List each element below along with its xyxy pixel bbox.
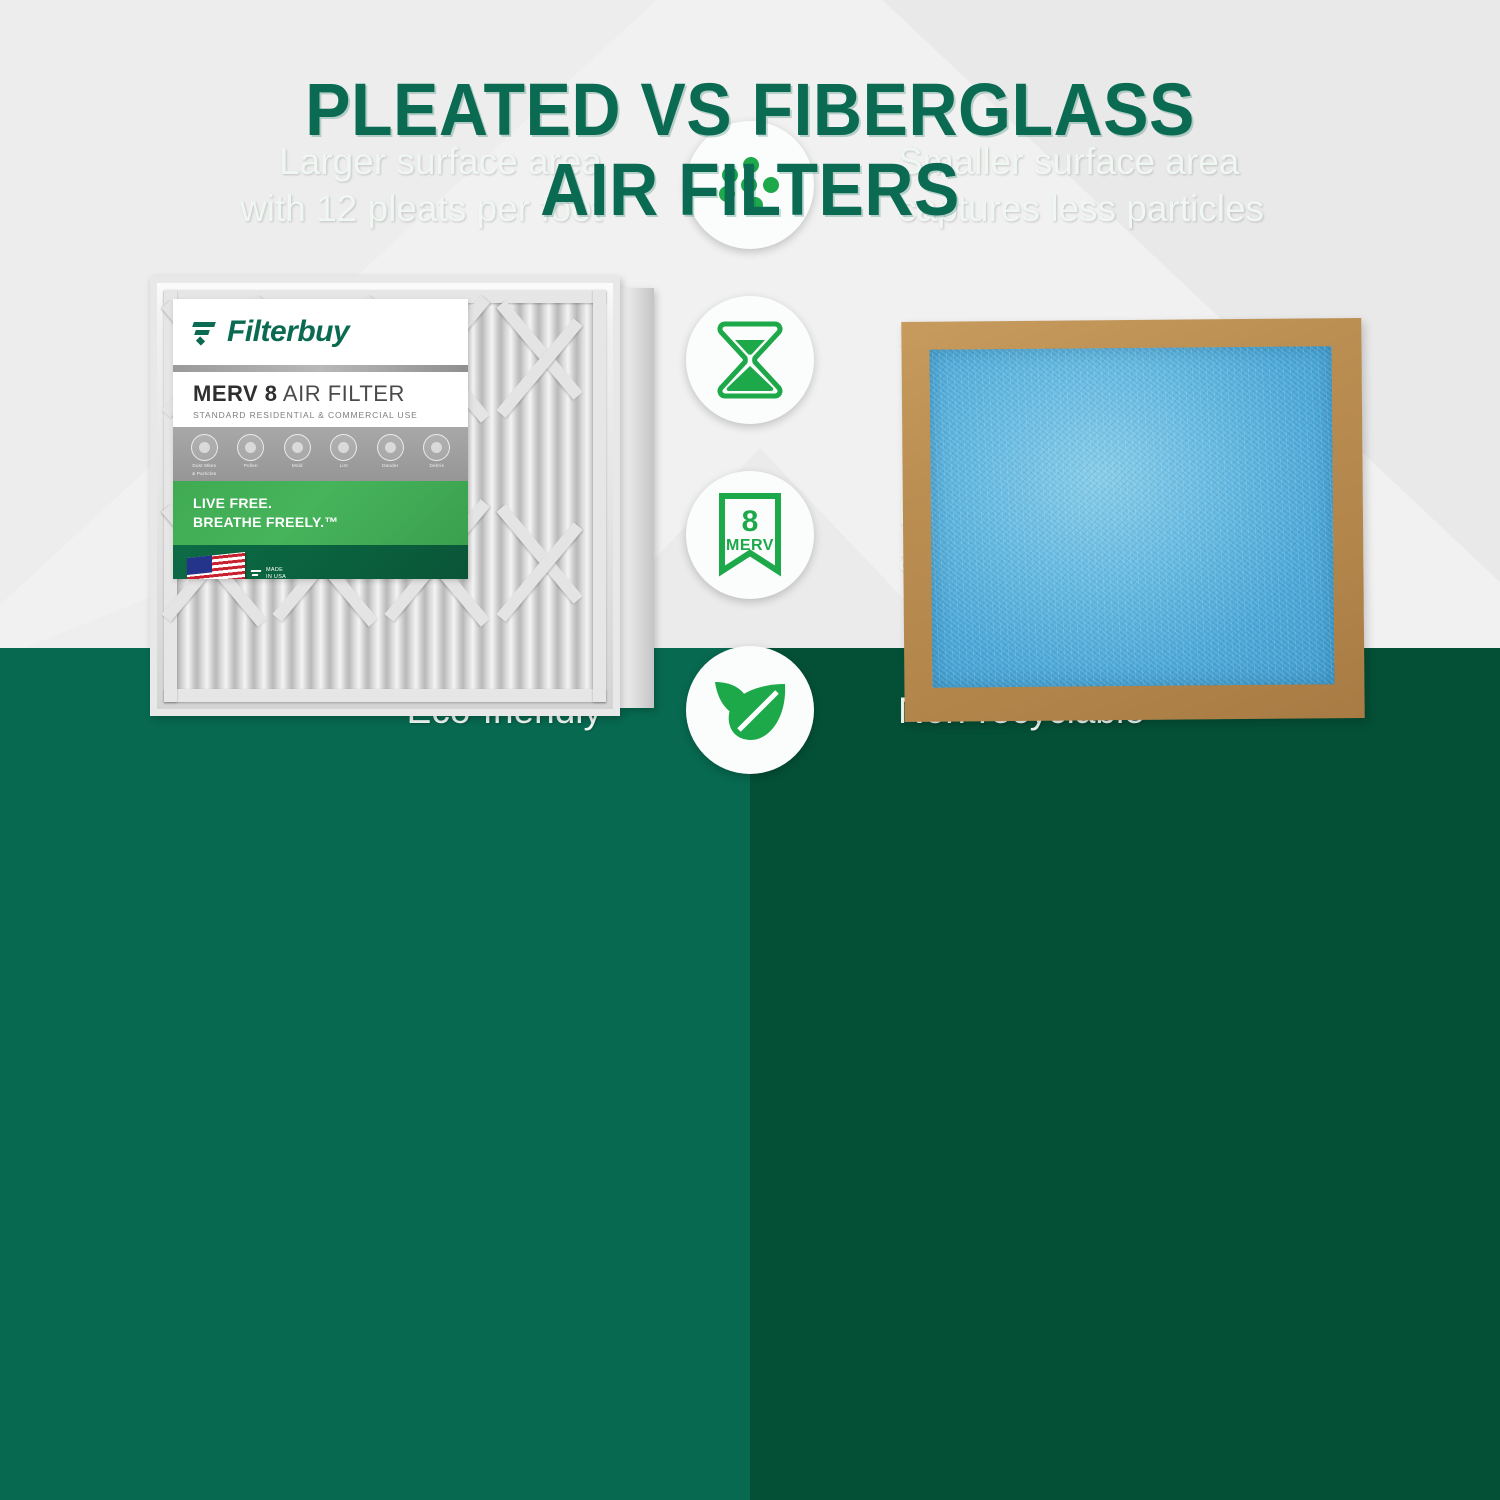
merv-badge-icon: 8 MERV bbox=[686, 471, 814, 599]
pleated-filter-side-wall bbox=[620, 288, 654, 708]
row-icon-wrap: 8 MERV bbox=[640, 471, 860, 599]
filterbuy-logo-icon bbox=[193, 319, 219, 345]
title-line-1: PLEATED VS FIBERGLASS bbox=[60, 70, 1440, 150]
label-feature-icon-pollen: Pollen bbox=[231, 434, 271, 469]
pleated-filter-image: Filterbuy MERV 8 AIR FILTER STANDARD RES… bbox=[150, 268, 650, 728]
title-line-2: AIR FILTERS bbox=[60, 150, 1440, 230]
tagline-line-1: LIVE FREE. bbox=[193, 494, 468, 513]
label-divider bbox=[173, 365, 468, 372]
pleated-filter-body: Filterbuy MERV 8 AIR FILTER STANDARD RES… bbox=[150, 276, 620, 716]
label-feature-caption: Debris bbox=[417, 463, 457, 469]
made-in-usa-line-1: MADE bbox=[266, 567, 286, 574]
label-feature-icon-debris: Debris bbox=[417, 434, 457, 469]
page-title: PLEATED VS FIBERGLASS AIR FILTERS bbox=[0, 70, 1500, 230]
row-icon-wrap bbox=[640, 296, 860, 424]
label-product-title-block: MERV 8 AIR FILTER STANDARD RESIDENTIAL &… bbox=[173, 372, 468, 427]
label-tagline-block: LIVE FREE. BREATHE FREELY.™ bbox=[173, 481, 468, 545]
fiberglass-filter-image bbox=[901, 318, 1364, 722]
label-feature-icon-mold: Mold bbox=[277, 434, 317, 469]
label-feature-icons-row: Dust Mites & Particles Pollen Mold Lint bbox=[173, 427, 468, 481]
label-feature-caption: Lint bbox=[324, 463, 364, 469]
label-feature-caption: Dust Mites bbox=[184, 463, 224, 469]
brand-logo-row: Filterbuy bbox=[173, 299, 468, 365]
pollen-icon bbox=[237, 434, 264, 461]
dust-mite-icon bbox=[191, 434, 218, 461]
label-made-in-usa-block: MADE IN USA bbox=[173, 545, 468, 579]
product-label: Filterbuy MERV 8 AIR FILTER STANDARD RES… bbox=[173, 299, 468, 579]
label-feature-icon-dander: Dander bbox=[370, 434, 410, 469]
mold-icon bbox=[284, 434, 311, 461]
leaf-icon bbox=[686, 646, 814, 774]
label-feature-caption: Dander bbox=[370, 463, 410, 469]
label-feature-icon-lint: Lint bbox=[324, 434, 364, 469]
label-feature-caption-2: & Particles bbox=[184, 471, 224, 477]
usa-flag-icon bbox=[187, 552, 245, 579]
dander-icon bbox=[377, 434, 404, 461]
label-merv-rating: MERV 8 bbox=[193, 381, 278, 406]
debris-icon bbox=[423, 434, 450, 461]
fiberglass-media bbox=[930, 346, 1335, 687]
label-feature-caption: Mold bbox=[277, 463, 317, 469]
label-feature-caption: Pollen bbox=[231, 463, 271, 469]
merv-badge-label: MERV bbox=[726, 537, 774, 554]
label-product-subtitle: STANDARD RESIDENTIAL & COMMERCIAL USE bbox=[193, 410, 468, 420]
merv-badge-number: 8 bbox=[742, 505, 759, 538]
hourglass-icon bbox=[686, 296, 814, 424]
filterbuy-logo-small-icon bbox=[251, 569, 262, 580]
tagline-line-2: BREATHE FREELY.™ bbox=[193, 513, 468, 532]
row-icon-wrap bbox=[640, 646, 860, 774]
made-in-usa-badge: MADE IN USA bbox=[251, 567, 286, 579]
brand-name: Filterbuy bbox=[227, 315, 349, 349]
label-product-type: AIR FILTER bbox=[278, 381, 405, 406]
made-in-usa-line-2: IN USA bbox=[266, 574, 286, 579]
label-feature-icon-dust-mites: Dust Mites & Particles bbox=[184, 434, 224, 477]
lint-icon bbox=[330, 434, 357, 461]
